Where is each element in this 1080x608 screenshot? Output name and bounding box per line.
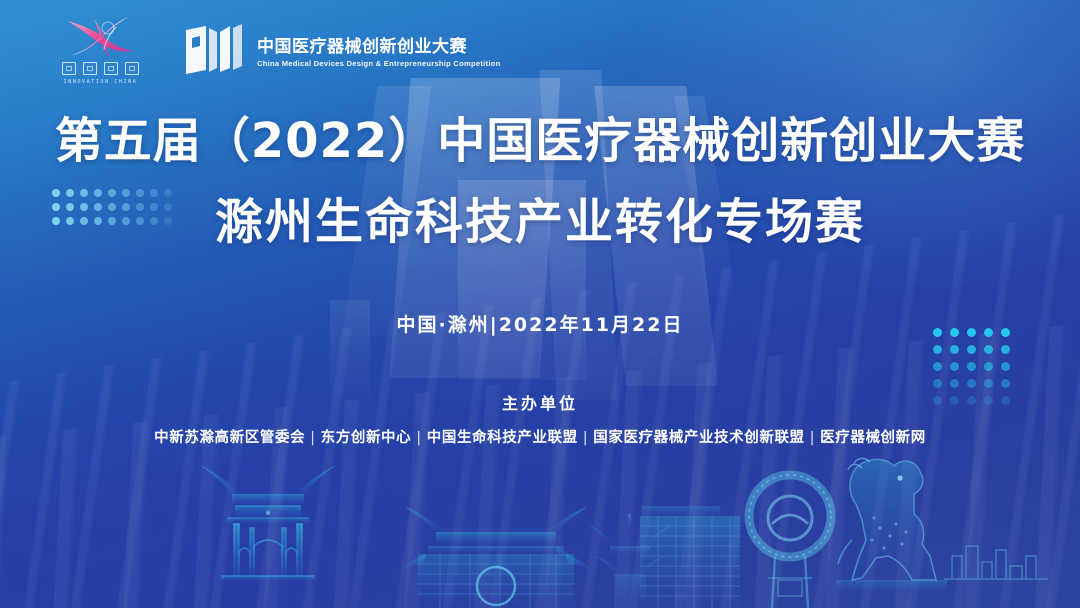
organizer-name: 国家医疗器械产业技术创新联盟 <box>593 430 804 446</box>
organizer-name: 中国生命科技产业联盟 <box>427 430 578 446</box>
organizer-list: 中新苏滁高新区管委会|东方创新中心|中国生命科技产业联盟|国家医疗器械产业技术创… <box>0 426 1080 447</box>
main-title-line-1: 第五届（2022）中国医疗器械创新创业大赛 <box>0 115 1080 168</box>
organizer-separator: | <box>578 430 594 446</box>
organizer-separator: | <box>305 430 321 446</box>
organizer-name: 东方创新中心 <box>321 430 412 446</box>
poster-canvas: INNOVATION CHINA 中国医疗器械创新创业大赛 China Medi… <box>0 0 1080 608</box>
organizer-separator: | <box>411 430 427 446</box>
organizer-name: 中新苏滁高新区管委会 <box>154 430 305 446</box>
main-title-line-2: 滁州生命科技产业转化专场赛 <box>0 196 1080 249</box>
organizer-name: 医疗器械创新网 <box>820 430 926 446</box>
event-location-date: 中国·滁州|2022年11月22日 <box>0 310 1080 337</box>
organizer-label: 主办单位 <box>0 390 1080 414</box>
organizer-separator: | <box>805 430 821 446</box>
poster-content: 第五届（2022）中国医疗器械创新创业大赛 滁州生命科技产业转化专场赛 中国·滁… <box>0 0 1080 608</box>
